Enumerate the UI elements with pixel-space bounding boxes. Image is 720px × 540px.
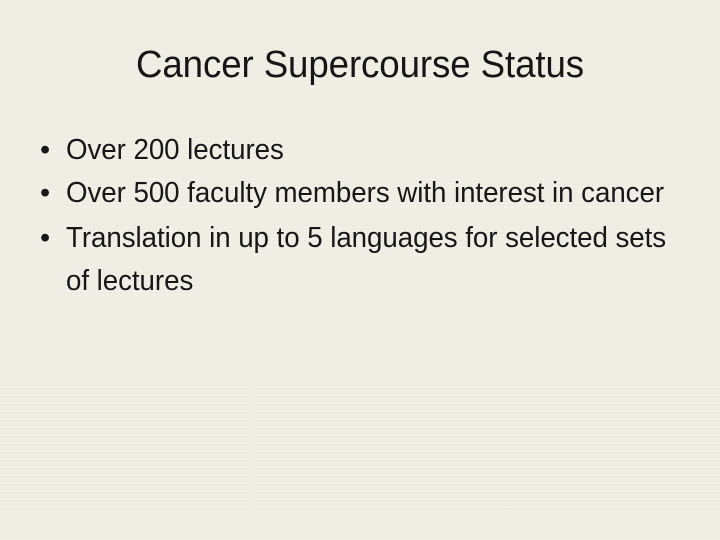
list-item-label: Over 200 lectures (66, 129, 684, 172)
list-item: • Over 500 faculty members with interest… (36, 172, 684, 215)
bullet-dot-icon: • (40, 129, 60, 172)
bullet-list: • Over 200 lectures • Over 500 faculty m… (36, 129, 684, 303)
list-item-label: Translation in up to 5 languages for sel… (66, 217, 684, 303)
presentation-slide: Cancer Supercourse Status • Over 200 lec… (0, 0, 720, 540)
bullet-dot-icon: • (40, 172, 60, 215)
page-title: Cancer Supercourse Status (13, 42, 708, 88)
bullet-dot-icon: • (40, 217, 60, 260)
list-item: • Over 200 lectures (36, 129, 684, 172)
list-item: • Translation in up to 5 languages for s… (36, 217, 684, 303)
list-item-label: Over 500 faculty members with interest i… (66, 172, 684, 215)
